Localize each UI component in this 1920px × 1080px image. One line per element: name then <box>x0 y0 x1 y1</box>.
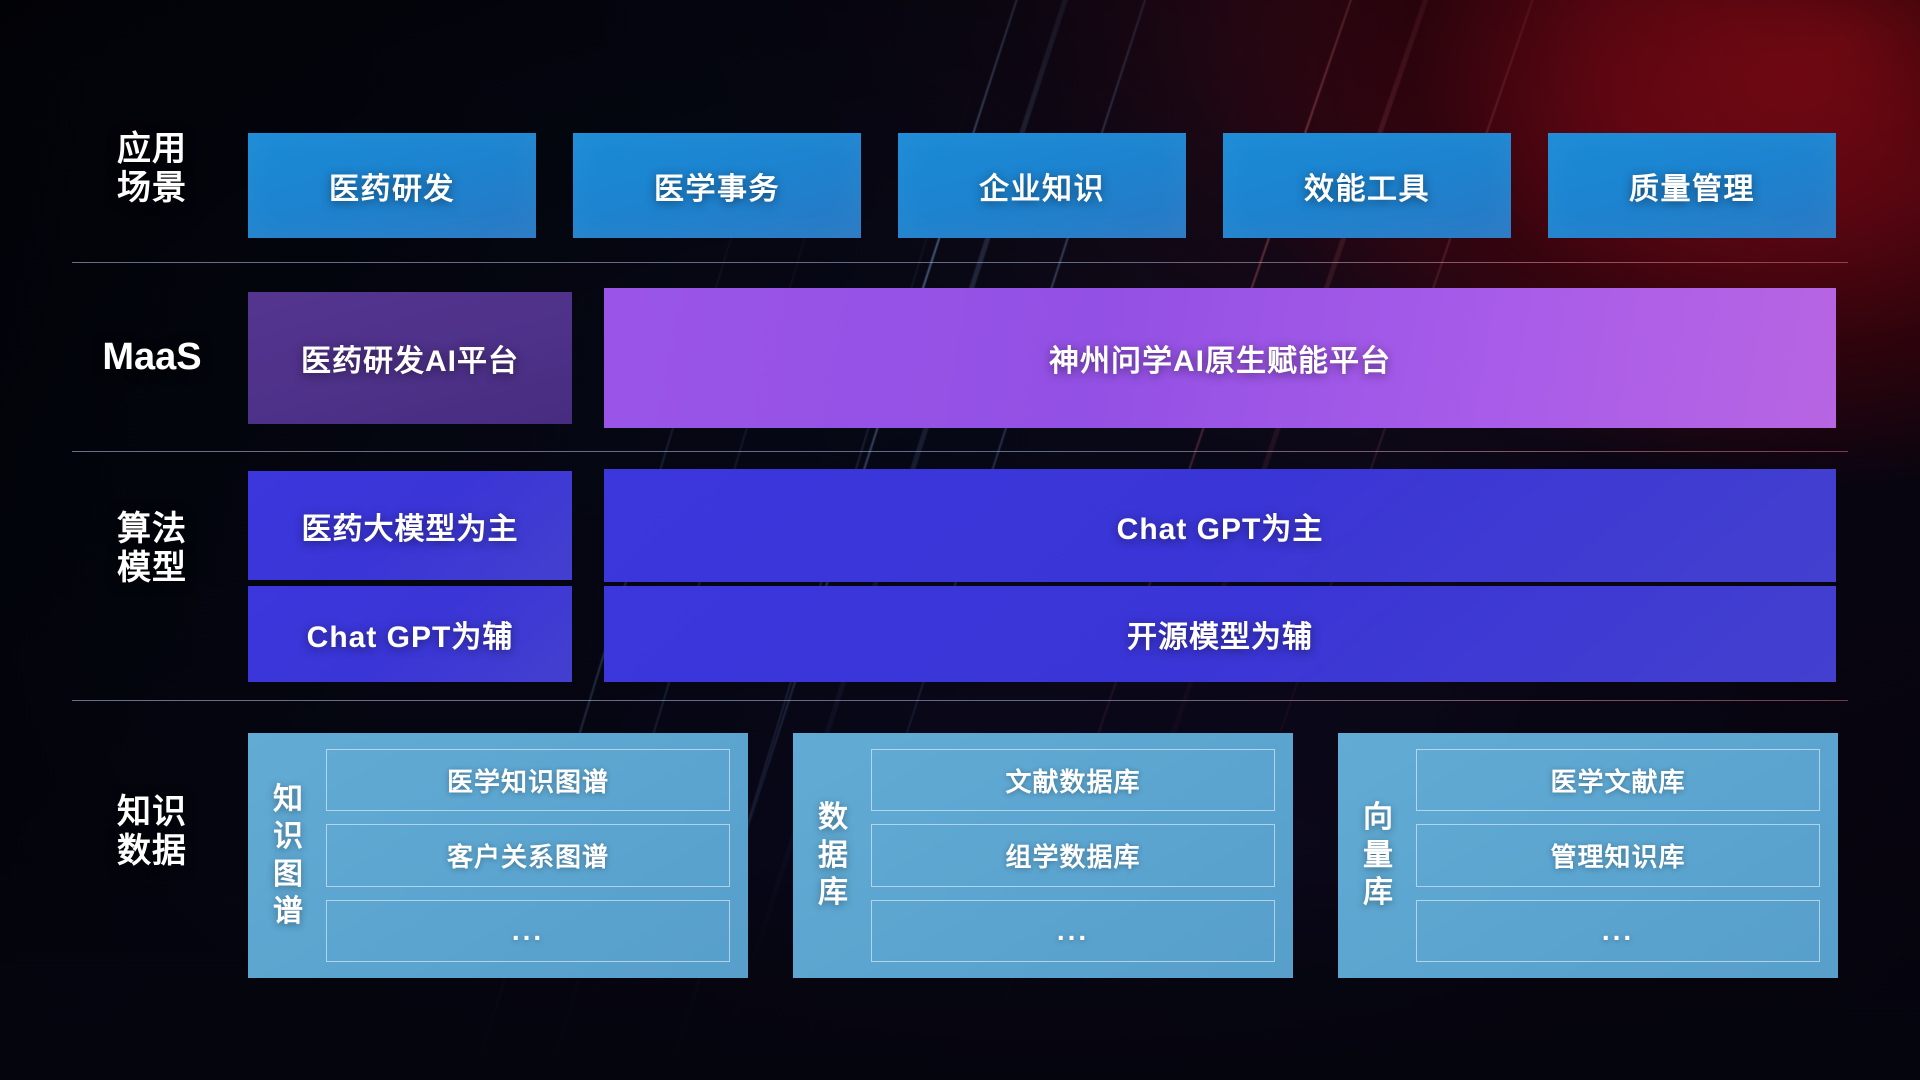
knowledge-item-omics-db[interactable]: 组学数据库 <box>871 824 1275 886</box>
row-label-algorithm-line1: 算法 <box>72 510 232 549</box>
knowledge-item-medical-graph[interactable]: 医学知识图谱 <box>326 749 730 811</box>
knowledge-item-database-more[interactable]: ... <box>871 900 1275 962</box>
knowledge-item-vector-more[interactable]: ... <box>1416 900 1820 962</box>
knowledge-item-management-knowledge[interactable]: 管理知识库 <box>1416 824 1820 886</box>
app-box-medical-affairs[interactable]: 医学事务 <box>573 133 861 238</box>
row-label-algorithm-line2: 模型 <box>72 549 232 588</box>
algo-box-chatgpt-primary[interactable]: Chat GPT为主 <box>604 469 1836 582</box>
divider-application-maas <box>72 262 1848 263</box>
knowledge-group-graph-label: 知识图谱 <box>266 749 310 962</box>
row-label-maas: MaaS <box>72 336 232 379</box>
algo-box-opensource-secondary[interactable]: 开源模型为辅 <box>604 586 1836 682</box>
maas-box-shenzhou-platform[interactable]: 神州问学AI原生赋能平台 <box>604 288 1836 428</box>
knowledge-item-customer-graph[interactable]: 客户关系图谱 <box>326 824 730 886</box>
maas-box-medicine-ai-platform[interactable]: 医药研发AI平台 <box>248 292 572 424</box>
row-label-knowledge-line2: 数据 <box>72 832 232 871</box>
architecture-diagram: 应用 场景 医药研发 医学事务 企业知识 效能工具 质量管理 MaaS 医药研发… <box>0 0 1920 1080</box>
knowledge-group-database-items: 文献数据库 组学数据库 ... <box>871 749 1275 962</box>
app-box-quality-management[interactable]: 质量管理 <box>1548 133 1836 238</box>
knowledge-group-graph[interactable]: 知识图谱 医学知识图谱 客户关系图谱 ... <box>248 733 748 978</box>
row-label-application-line2: 场景 <box>72 169 232 208</box>
row-label-application: 应用 场景 <box>72 130 232 208</box>
divider-maas-algorithm <box>72 451 1848 452</box>
knowledge-group-vector-items: 医学文献库 管理知识库 ... <box>1416 749 1820 962</box>
knowledge-item-medical-literature[interactable]: 医学文献库 <box>1416 749 1820 811</box>
knowledge-group-vector[interactable]: 向量库 医学文献库 管理知识库 ... <box>1338 733 1838 978</box>
app-box-enterprise-knowledge[interactable]: 企业知识 <box>898 133 1186 238</box>
row-label-knowledge: 知识 数据 <box>72 793 232 871</box>
knowledge-group-graph-items: 医学知识图谱 客户关系图谱 ... <box>326 749 730 962</box>
app-box-efficiency-tools[interactable]: 效能工具 <box>1223 133 1511 238</box>
knowledge-group-database-label: 数据库 <box>811 749 855 962</box>
algo-box-chatgpt-secondary[interactable]: Chat GPT为辅 <box>248 586 572 682</box>
row-label-knowledge-line1: 知识 <box>72 793 232 832</box>
row-label-application-line1: 应用 <box>72 130 232 169</box>
app-box-medicine-rd[interactable]: 医药研发 <box>248 133 536 238</box>
knowledge-group-database[interactable]: 数据库 文献数据库 组学数据库 ... <box>793 733 1293 978</box>
algo-box-medicine-llm-primary[interactable]: 医药大模型为主 <box>248 471 572 580</box>
row-label-algorithm: 算法 模型 <box>72 510 232 588</box>
knowledge-item-graph-more[interactable]: ... <box>326 900 730 962</box>
knowledge-group-vector-label: 向量库 <box>1356 749 1400 962</box>
knowledge-item-literature-db[interactable]: 文献数据库 <box>871 749 1275 811</box>
divider-algorithm-knowledge <box>72 700 1848 701</box>
